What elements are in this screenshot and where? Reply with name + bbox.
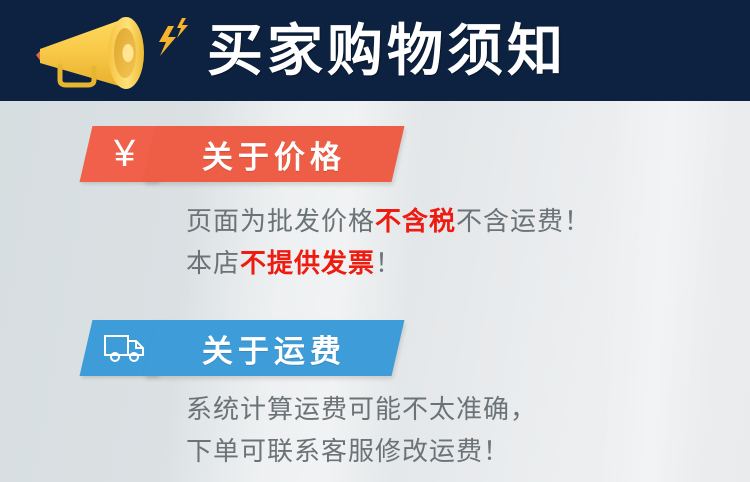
header-bar: 买家购物须知 [0, 0, 750, 101]
price-line-2-part-1: 本店 [186, 248, 240, 278]
section-price: ¥ 关于价格 [0, 126, 750, 186]
price-banner: 关于价格 [144, 126, 405, 182]
shipping-line-1: 系统计算运费可能不太准确， [186, 388, 537, 430]
shipping-line-2: 下单可联系客服修改运费！ [186, 430, 537, 472]
price-banner-label: 关于价格 [202, 132, 346, 177]
page-title: 买家购物须知 [207, 23, 567, 79]
shipping-text-block: 系统计算运费可能不太准确， 下单可联系客服修改运费！ [186, 388, 537, 472]
shipping-banner: 关于运费 [144, 320, 405, 376]
price-line-2: 本店不提供发票！ [186, 242, 591, 284]
shipping-banner-row: 关于运费 [0, 320, 750, 380]
price-banner-row: ¥ 关于价格 [0, 126, 750, 186]
price-text-block: 页面为批发价格不含税不含运费！ 本店不提供发票！ [186, 200, 591, 284]
shipping-banner-label: 关于运费 [202, 326, 346, 371]
yen-symbol: ¥ [114, 135, 135, 173]
buyer-notice-banner: 买家购物须知 ¥ 关于价格 页面为批发价格不含税不含运费！ 本店不提供发票！ [0, 0, 750, 482]
price-line-2-part-3: ！ [375, 248, 402, 278]
section-shipping: 关于运费 [0, 320, 750, 380]
price-line-1-highlight: 不含税 [375, 206, 456, 236]
megaphone-icon [26, 8, 196, 94]
price-line-1-part-3: 不含运费！ [456, 206, 591, 236]
price-line-1: 页面为批发价格不含税不含运费！ [186, 200, 591, 242]
price-line-1-part-1: 页面为批发价格 [186, 206, 375, 236]
price-line-2-highlight: 不提供发票 [240, 248, 375, 278]
